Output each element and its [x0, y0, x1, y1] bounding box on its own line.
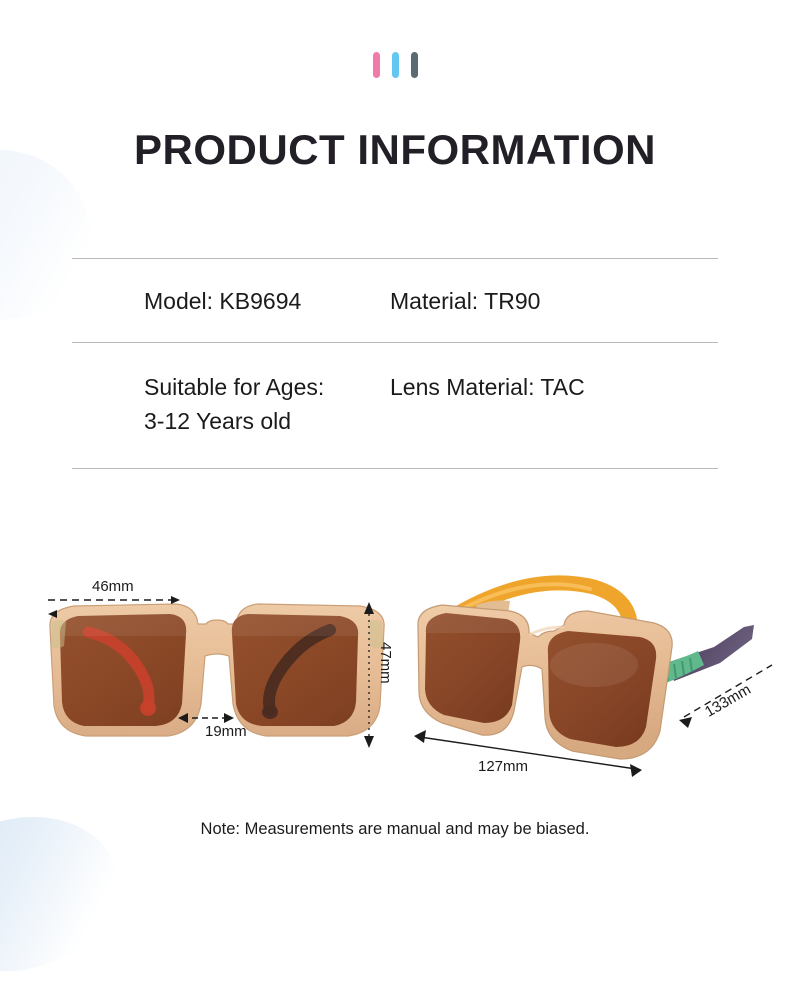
front-right-lens	[228, 610, 364, 732]
dim-label-127mm: 127mm	[478, 758, 528, 775]
spec-model: Model: KB9694	[72, 285, 380, 318]
spec-lens-material: Lens Material: TAC	[380, 371, 718, 404]
spec-material: Material: TR90	[380, 285, 718, 318]
spec-row-model: Model: KB9694 Material: TR90	[72, 259, 718, 342]
accent-bar-group	[0, 52, 790, 78]
sunglasses-angled-view	[398, 565, 778, 800]
measurement-note: Note: Measurements are manual and may be…	[0, 820, 790, 839]
angled-right-lens	[544, 627, 660, 753]
page-title: PRODUCT INFORMATION	[0, 126, 790, 174]
front-left-lens	[56, 610, 192, 732]
dim-label-46mm: 46mm	[92, 578, 134, 595]
dim-label-19mm: 19mm	[205, 723, 247, 740]
pink-bar	[373, 52, 380, 78]
blue-bar	[392, 52, 399, 78]
spec-ages-line2: 3-12 Years old	[144, 405, 380, 438]
sunglasses-front-view	[30, 570, 405, 800]
dim-arrow-46mm	[48, 596, 180, 604]
dim-arrow-19mm	[178, 713, 234, 723]
dim-label-47mm: 47mm	[377, 642, 394, 684]
angled-right-temple	[660, 625, 754, 683]
spec-ages-line1: Suitable for Ages:	[144, 371, 380, 404]
spec-row-ages: Suitable for Ages: 3-12 Years old Lens M…	[72, 343, 718, 468]
specification-table: Model: KB9694 Material: TR90 Suitable fo…	[72, 258, 718, 469]
product-figures: 46mm 19mm 47mm 127mm 133mm	[0, 560, 790, 810]
spec-ages: Suitable for Ages: 3-12 Years old	[72, 371, 380, 438]
slate-bar	[411, 52, 418, 78]
spec-divider-bottom	[72, 468, 718, 469]
